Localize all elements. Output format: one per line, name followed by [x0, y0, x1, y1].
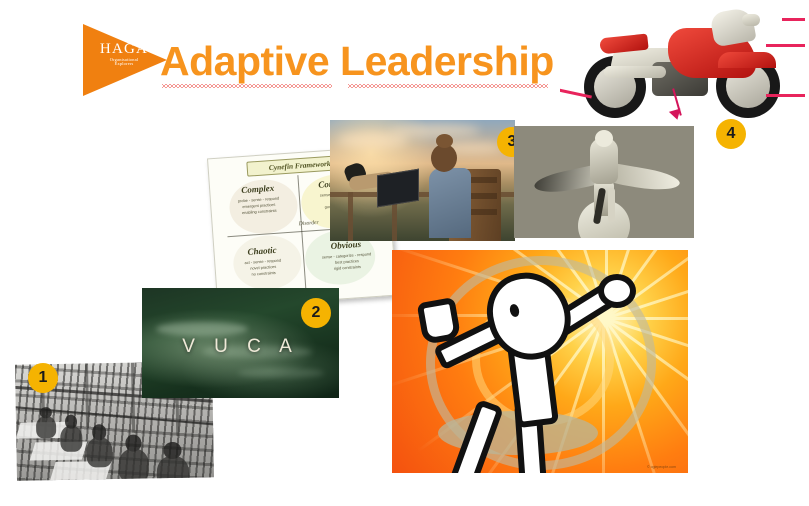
celebration-stick-figure-image[interactable]: © oglepeople.com	[392, 250, 688, 473]
factory-post	[85, 363, 89, 427]
page-title: Adaptive Leadership	[160, 38, 554, 85]
factory-worker	[36, 416, 56, 438]
spellcheck-underline-word1	[162, 84, 332, 88]
cloud-shape	[338, 132, 408, 148]
figure-hand-right	[598, 274, 636, 308]
laptop-shape	[377, 169, 419, 208]
page-title-text: Adaptive Leadership	[160, 38, 554, 84]
bird-leg	[608, 188, 615, 222]
annotation-line-bottom	[766, 94, 805, 97]
logo-subtitle-line2: Explorers	[93, 62, 155, 66]
factory-worker	[118, 448, 149, 480]
annotation-arrow-head	[669, 109, 683, 122]
badge-1[interactable]: 1	[28, 363, 58, 393]
badge-4[interactable]: 4	[716, 119, 746, 149]
factory-worker	[60, 426, 82, 452]
cynefin-quadrant-complex: Complex probe - sense - respond emergent…	[216, 175, 303, 239]
haga-logo: HAGA Organisational Explorers	[83, 24, 167, 96]
image-watermark: © oglepeople.com	[647, 465, 676, 469]
factory-post	[131, 363, 135, 433]
spellcheck-underline-word2	[348, 84, 548, 88]
person-hair-bun	[436, 134, 453, 148]
front-fender	[718, 52, 776, 68]
person-head	[431, 144, 457, 172]
windscreen	[709, 7, 756, 48]
rider-head	[595, 130, 613, 147]
foam-shape	[238, 368, 324, 378]
person-body	[429, 168, 471, 238]
mirror	[742, 14, 760, 26]
vuca-caption: V U C A	[142, 336, 339, 358]
slide-canvas: HAGA Organisational Explorers Adaptive L…	[0, 0, 809, 506]
cloud-shape	[390, 124, 480, 137]
remote-worker-photo[interactable]	[330, 120, 515, 241]
logo-name: HAGA	[93, 42, 155, 57]
factory-worker	[157, 456, 190, 481]
foam-shape	[156, 322, 248, 336]
sculpture-image[interactable]	[514, 126, 694, 238]
annotation-line-top	[782, 18, 805, 21]
motorcycle-image[interactable]	[560, 4, 805, 122]
logo-text-group: HAGA Organisational Explorers	[93, 42, 155, 67]
badge-2[interactable]: 2	[301, 298, 331, 328]
balcony-rail	[348, 192, 353, 241]
exhaust-pipe	[604, 66, 666, 78]
annotation-line-mid	[766, 44, 805, 47]
factory-worker	[86, 437, 113, 467]
